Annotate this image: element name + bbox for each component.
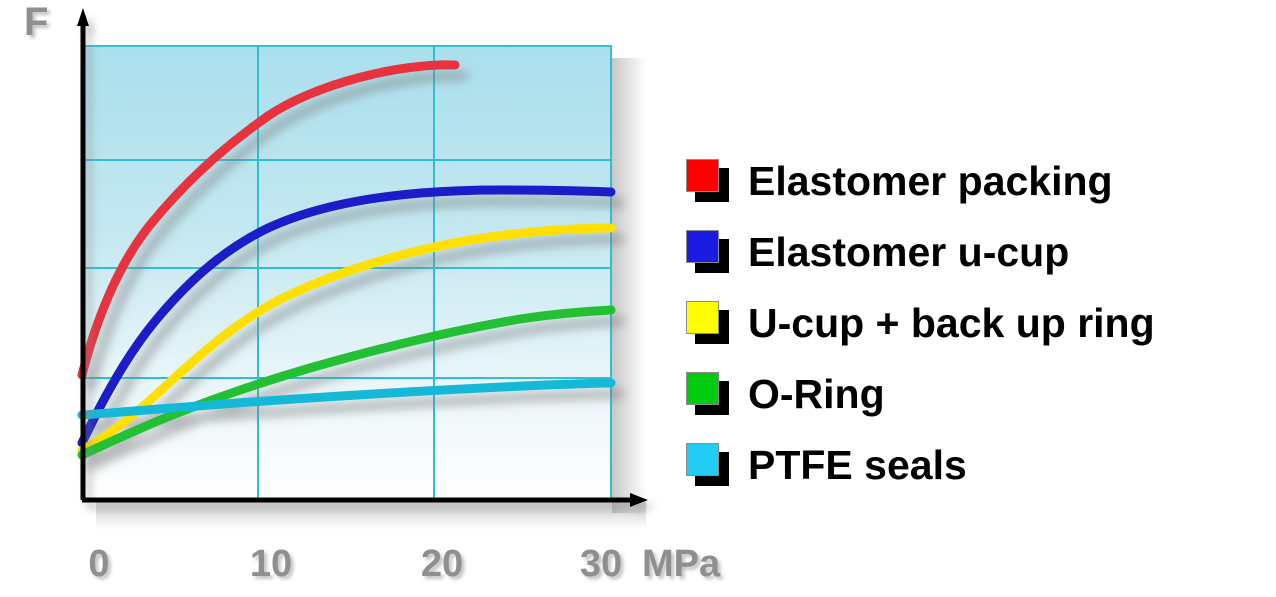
y-axis-arrowhead [77, 8, 89, 26]
legend-color-swatch-cyan [686, 443, 719, 476]
y-axis-label: F [24, 2, 48, 42]
legend-swatch-wrap [686, 443, 732, 489]
legend-swatch-wrap [686, 372, 732, 418]
legend-swatch-wrap [686, 159, 732, 205]
legend-item-ptfe-seals[interactable]: PTFE seals [686, 430, 1256, 501]
legend-item-elastomer-u-cup[interactable]: Elastomer u-cup [686, 217, 1256, 288]
legend-color-swatch-yellow [686, 301, 719, 334]
legend-color-swatch-red [686, 159, 719, 192]
x-tick-label-30: 30 [580, 545, 622, 583]
x-axis-unit-label: MPa [642, 545, 720, 583]
legend-label: Elastomer packing [748, 161, 1113, 202]
chart-page: F 0 10 20 30 MPa Elastomer packing Elast… [0, 0, 1276, 597]
legend-color-swatch-blue [686, 230, 719, 263]
x-tick-label-10: 10 [250, 545, 292, 583]
legend-swatch-wrap [686, 301, 732, 347]
legend-label: U-cup + back up ring [748, 303, 1155, 344]
legend-label: PTFE seals [748, 445, 967, 486]
x-tick-label-20: 20 [421, 545, 463, 583]
legend-label: Elastomer u-cup [748, 232, 1069, 273]
legend-item-elastomer-packing[interactable]: Elastomer packing [686, 146, 1256, 217]
force-vs-pressure-chart [0, 0, 670, 597]
legend-swatch-wrap [686, 230, 732, 276]
legend-color-swatch-green [686, 372, 719, 405]
legend-label: O-Ring [748, 374, 885, 415]
legend-item-u-cup-back-up-ring[interactable]: U-cup + back up ring [686, 288, 1256, 359]
chart-container: F 0 10 20 30 MPa [0, 0, 670, 597]
chart-legend: Elastomer packing Elastomer u-cup U-cup … [686, 146, 1256, 501]
x-tick-label-0: 0 [88, 545, 109, 583]
legend-item-o-ring[interactable]: O-Ring [686, 359, 1256, 430]
